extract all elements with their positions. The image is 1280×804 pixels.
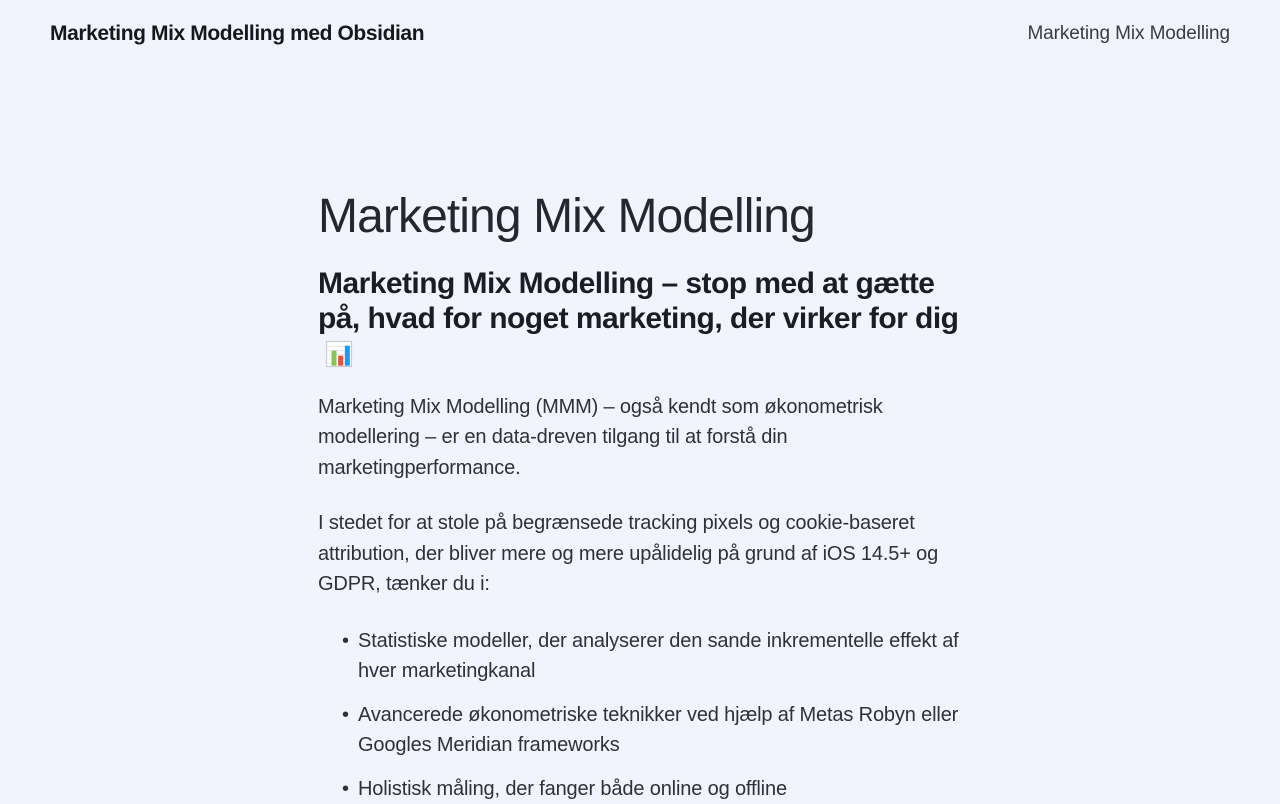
benefits-list: Statistiske modeller, der analyserer den… bbox=[318, 626, 963, 804]
bar-chart-emoji-icon bbox=[324, 339, 354, 369]
intro-paragraph-2: I stedet for at stole på begrænsede trac… bbox=[318, 508, 963, 600]
article-heading: Marketing Mix Modelling – stop med at gæ… bbox=[318, 266, 963, 372]
article-content: Marketing Mix Modelling Marketing Mix Mo… bbox=[318, 190, 963, 804]
article-heading-text: Marketing Mix Modelling – stop med at gæ… bbox=[318, 267, 958, 335]
list-item: Avancerede økonometriske teknikker ved h… bbox=[358, 700, 963, 761]
site-title-link[interactable]: Marketing Mix Modelling med Obsidian bbox=[50, 22, 424, 46]
page-title: Marketing Mix Modelling bbox=[318, 190, 963, 244]
list-item: Statistiske modeller, der analyserer den… bbox=[358, 626, 963, 687]
list-item: Holistisk måling, der fanger både online… bbox=[358, 774, 963, 804]
site-header: Marketing Mix Modelling med Obsidian Mar… bbox=[0, 0, 1280, 68]
intro-paragraph-1: Marketing Mix Modelling (MMM) – også ken… bbox=[318, 392, 963, 484]
nav-item-marketing-mix-modelling[interactable]: Marketing Mix Modelling bbox=[1027, 23, 1230, 45]
page-wrapper: Marketing Mix Modelling Marketing Mix Mo… bbox=[0, 68, 1280, 804]
primary-navigation: Marketing Mix Modelling bbox=[1027, 23, 1230, 45]
